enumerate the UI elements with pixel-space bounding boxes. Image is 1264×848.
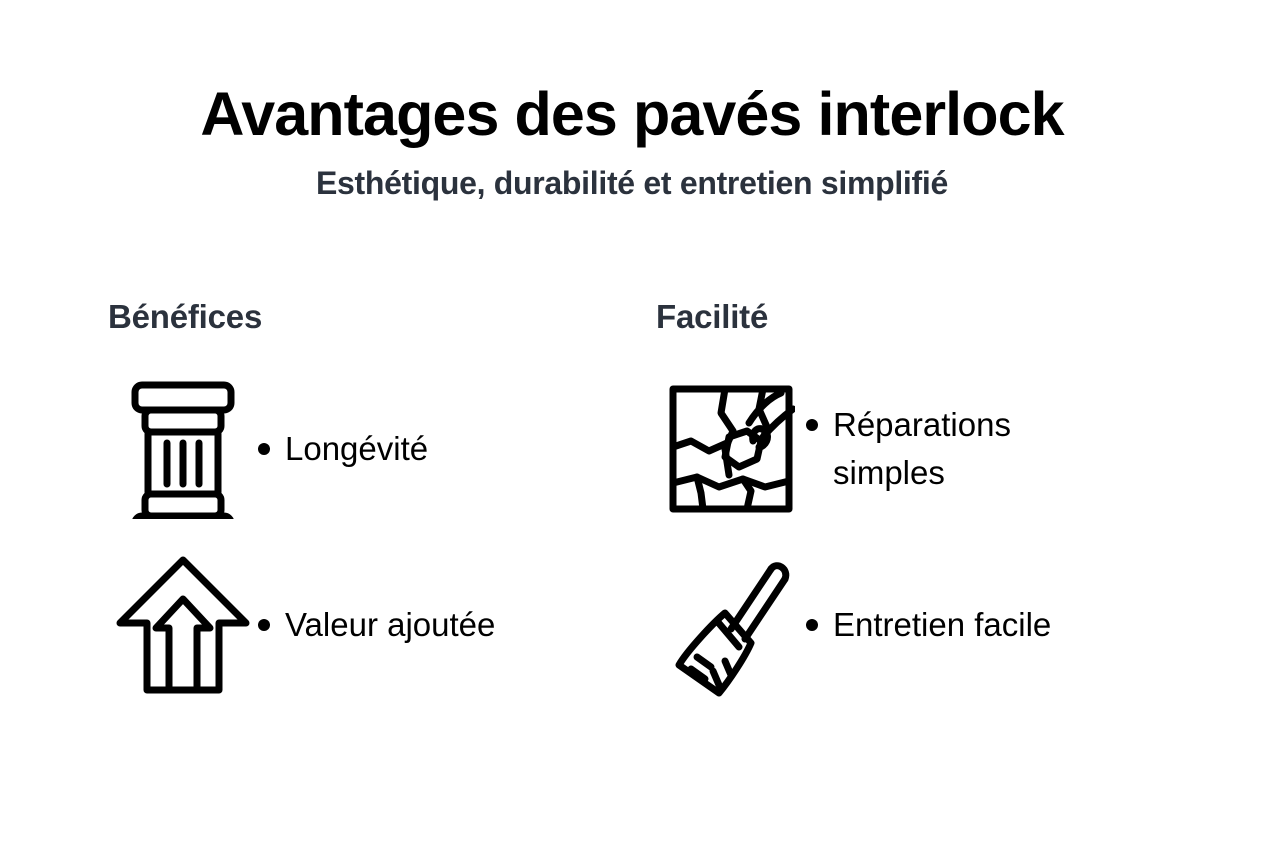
list-item-label: Valeur ajoutée [285, 601, 495, 649]
list-item-label: Réparations simples [833, 401, 1083, 497]
house-up-arrow-icon [108, 550, 258, 700]
list-item: Longévité [108, 361, 656, 537]
bullet-marker-icon [258, 619, 270, 631]
column-heading-facilite: Facilité [656, 300, 1204, 333]
list-item: Valeur ajoutée [108, 537, 656, 713]
slide-canvas: Avantages des pavés interlock Esthétique… [0, 0, 1264, 848]
broom-icon [656, 550, 806, 700]
bullet-item: Entretien facile [806, 601, 1051, 649]
page-title: Avantages des pavés interlock [0, 84, 1264, 145]
bullet-item: Valeur ajoutée [258, 601, 495, 649]
content-columns: Bénéfices [0, 300, 1264, 713]
list-item-label: Entretien facile [833, 601, 1051, 649]
slide-header: Avantages des pavés interlock Esthétique… [0, 84, 1264, 199]
list-item-label: Longévité [285, 425, 428, 473]
list-item: Réparations simples [656, 361, 1204, 537]
column-benefices: Bénéfices [108, 300, 656, 713]
bullet-marker-icon [258, 443, 270, 455]
bullet-marker-icon [806, 419, 818, 431]
column-facilite: Facilité [656, 300, 1204, 713]
classical-column-icon [108, 374, 258, 524]
hand-paver-repair-icon [656, 374, 806, 524]
column-heading-benefices: Bénéfices [108, 300, 656, 333]
bullet-marker-icon [806, 619, 818, 631]
list-item: Entretien facile [656, 537, 1204, 713]
page-subtitle: Esthétique, durabilité et entretien simp… [0, 167, 1264, 199]
bullet-item: Réparations simples [806, 401, 1083, 497]
bullet-item: Longévité [258, 425, 428, 473]
